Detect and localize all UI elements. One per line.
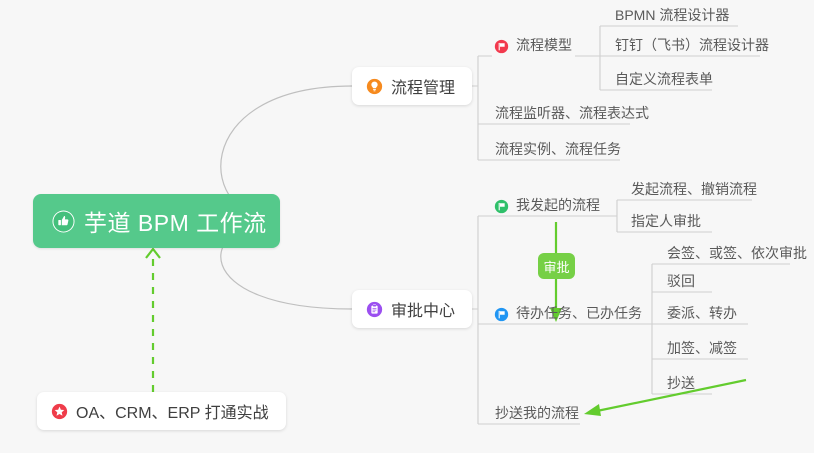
lightbulb-icon [366, 78, 383, 95]
node-todo-done[interactable]: 待办任务、已办任务 [490, 302, 648, 326]
node-multi-sign-label: 会签、或签、依次审批 [667, 245, 807, 262]
wire-process-model-bracket [575, 26, 612, 90]
branch-process-management-label: 流程管理 [391, 74, 455, 98]
flow-arrow-callout [146, 249, 160, 392]
approval-chip-label: 审批 [543, 257, 569, 276]
wire-todo-done-bracket [637, 264, 664, 394]
node-process-listener-label: 流程监听器、流程表达式 [495, 105, 649, 122]
node-my-initiated[interactable]: 我发起的流程 [490, 194, 606, 218]
node-custom-process-form-label: 自定义流程表单 [615, 71, 713, 88]
node-add-remove-sign[interactable]: 加签、减签 [661, 337, 743, 361]
node-cc[interactable]: 抄送 [661, 372, 701, 396]
node-cc-to-me[interactable]: 抄送我的流程 [489, 402, 585, 426]
node-assignee-approval[interactable]: 指定人审批 [625, 210, 707, 234]
node-bpmn-designer-label: BPMN 流程设计器 [615, 7, 729, 24]
thumbs-up-icon [52, 210, 75, 233]
node-dingtalk-feishu-designer-label: 钉钉（飞书）流程设计器 [615, 37, 769, 54]
callout-card[interactable]: OA、CRM、ERP 打通实战 [37, 392, 286, 430]
node-reject[interactable]: 驳回 [661, 270, 701, 294]
node-my-initiated-label: 我发起的流程 [516, 197, 600, 214]
star-icon [51, 403, 68, 420]
flag-red-icon [494, 39, 509, 54]
node-multi-sign[interactable]: 会签、或签、依次审批 [661, 242, 813, 266]
node-start-cancel[interactable]: 发起流程、撤销流程 [625, 178, 763, 202]
node-bpmn-designer[interactable]: BPMN 流程设计器 [609, 4, 735, 28]
node-add-remove-sign-label: 加签、减签 [667, 340, 737, 357]
node-delegate-transfer[interactable]: 委派、转办 [661, 302, 743, 326]
node-cc-to-me-label: 抄送我的流程 [495, 405, 579, 422]
branch-process-management[interactable]: 流程管理 [352, 67, 472, 105]
node-process-instance[interactable]: 流程实例、流程任务 [489, 138, 627, 162]
node-custom-process-form[interactable]: 自定义流程表单 [609, 68, 719, 92]
callout-label: OA、CRM、ERP 打通实战 [76, 399, 269, 423]
node-process-listener[interactable]: 流程监听器、流程表达式 [489, 102, 655, 126]
node-process-model[interactable]: 流程模型 [490, 34, 578, 58]
root-label: 芋道 BPM 工作流 [84, 204, 267, 238]
branch-approval-center-label: 审批中心 [391, 297, 455, 321]
flag-blue-icon [494, 307, 509, 322]
mindmap-canvas: 芋道 BPM 工作流 OA、CRM、ERP 打通实战 流程管理 [0, 0, 814, 453]
node-process-model-label: 流程模型 [516, 37, 572, 54]
node-dingtalk-feishu-designer[interactable]: 钉钉（飞书）流程设计器 [609, 34, 775, 58]
node-delegate-transfer-label: 委派、转办 [667, 305, 737, 322]
clipboard-icon [366, 301, 383, 318]
node-reject-label: 驳回 [667, 273, 695, 290]
flag-green-icon [494, 199, 509, 214]
node-todo-done-label: 待办任务、已办任务 [516, 305, 642, 322]
node-cc-label: 抄送 [667, 375, 695, 392]
node-start-cancel-label: 发起流程、撤销流程 [631, 181, 757, 198]
node-assignee-approval-label: 指定人审批 [631, 213, 701, 230]
root-node[interactable]: 芋道 BPM 工作流 [33, 194, 280, 248]
branch-approval-center[interactable]: 审批中心 [352, 290, 472, 328]
node-process-instance-label: 流程实例、流程任务 [495, 141, 621, 158]
approval-chip[interactable]: 审批 [538, 253, 575, 279]
